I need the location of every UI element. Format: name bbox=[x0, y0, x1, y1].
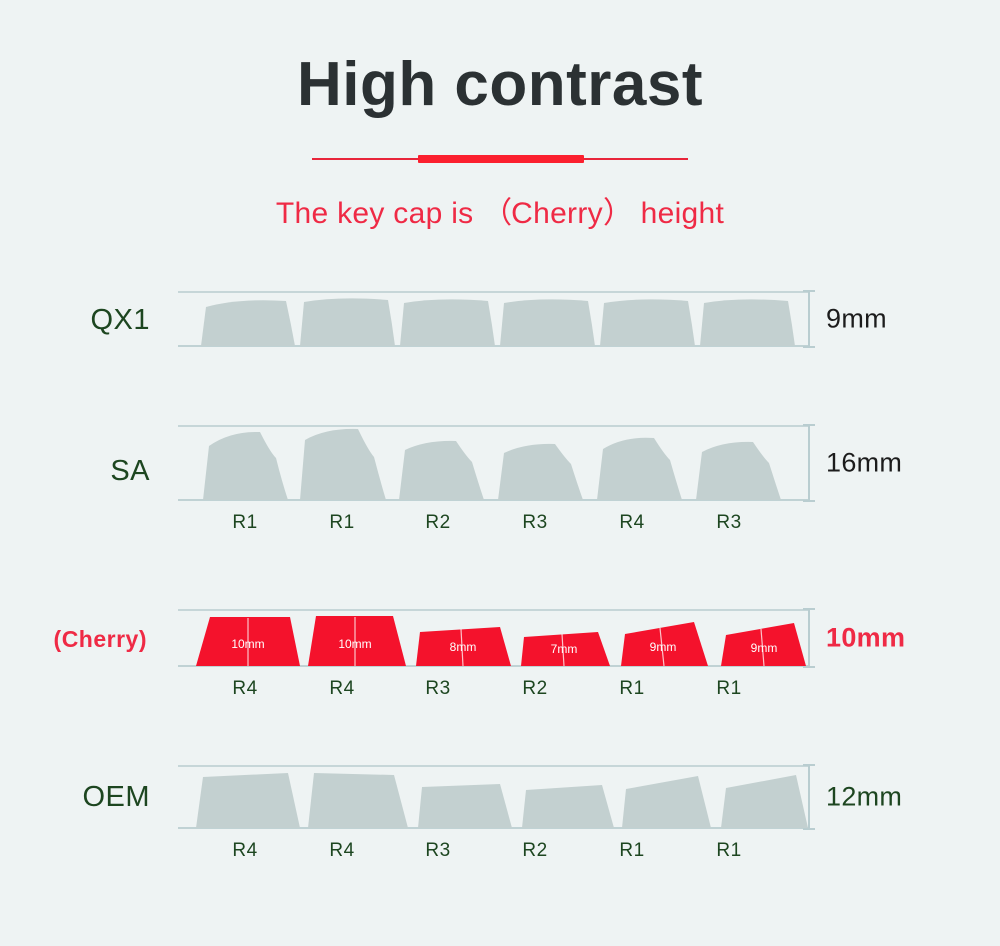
keycap-height-label: 9mm bbox=[751, 641, 778, 655]
row-label-oem: OEM bbox=[0, 781, 150, 814]
measure-value-qx1: 9mm bbox=[826, 304, 887, 335]
tick-label: R1 bbox=[215, 512, 275, 534]
keycap-height-label: 8mm bbox=[450, 640, 477, 654]
tick-label: R1 bbox=[312, 512, 372, 534]
subtitle-paren-open: （ bbox=[482, 197, 511, 230]
tick-label: R3 bbox=[699, 512, 759, 534]
tick-label: R1 bbox=[699, 840, 759, 862]
subtitle-profile-name: Cherry bbox=[511, 197, 603, 230]
subtitle-suffix: height bbox=[641, 197, 725, 230]
keycap-diagram-sa bbox=[178, 424, 808, 502]
infographic-page: High contrast The key cap is （Cherry） he… bbox=[0, 0, 1000, 946]
tick-label: R4 bbox=[312, 678, 372, 700]
keycap-height-label: 10mm bbox=[231, 637, 264, 651]
tick-label: R3 bbox=[408, 840, 468, 862]
subtitle-paren-close: ） bbox=[603, 197, 632, 230]
keycap-diagram-oem bbox=[178, 764, 808, 830]
tick-label: R2 bbox=[505, 678, 565, 700]
page-title: High contrast bbox=[0, 52, 1000, 117]
tick-label: R3 bbox=[408, 678, 468, 700]
subtitle-prefix: The key cap is bbox=[276, 197, 474, 230]
divider-accent-bar bbox=[418, 155, 584, 163]
tick-label: R1 bbox=[602, 678, 662, 700]
tick-label: R4 bbox=[312, 840, 372, 862]
row-label-qx1: QX1 bbox=[0, 304, 150, 337]
keycap-diagram-cherry: 10mm 10mm 8mm 7mm 9mm 9mm bbox=[178, 608, 808, 668]
keycap-diagram-qx1 bbox=[178, 290, 808, 348]
tick-label: R2 bbox=[505, 840, 565, 862]
tick-label: R3 bbox=[505, 512, 565, 534]
measure-value-oem: 12mm bbox=[826, 782, 902, 813]
tick-label: R2 bbox=[408, 512, 468, 534]
tick-label: R4 bbox=[602, 512, 662, 534]
keycap-height-label: 10mm bbox=[338, 637, 371, 651]
tick-label: R1 bbox=[602, 840, 662, 862]
tick-label: R4 bbox=[215, 678, 275, 700]
measure-value-sa: 16mm bbox=[826, 448, 902, 479]
row-label-sa: SA bbox=[0, 455, 150, 488]
keycap-height-label: 7mm bbox=[551, 642, 578, 656]
measure-value-cherry: 10mm bbox=[826, 623, 905, 654]
row-label-cherry: (Cherry) bbox=[0, 626, 147, 653]
page-subtitle: The key cap is （Cherry） height bbox=[0, 188, 1000, 232]
keycap-height-label: 9mm bbox=[650, 640, 677, 654]
title-divider bbox=[312, 155, 688, 163]
tick-label: R1 bbox=[699, 678, 759, 700]
tick-label: R4 bbox=[215, 840, 275, 862]
